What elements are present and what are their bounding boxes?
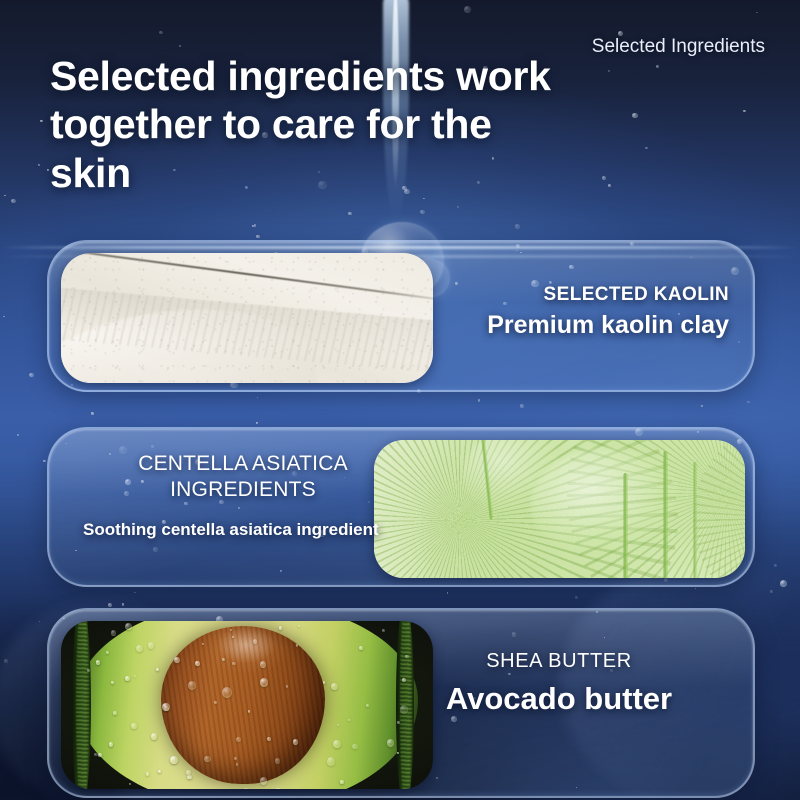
avocado-droplet-icon — [125, 676, 130, 681]
avocado-droplet-icon — [397, 721, 400, 724]
avocado-droplet-icon — [111, 681, 114, 684]
avocado-droplet-icon — [387, 739, 394, 747]
avocado-droplet-icon — [236, 737, 241, 742]
avocado-texture — [61, 621, 433, 789]
centella-eyebrow: CENTELLA ASIATICA INGREDIENTS — [83, 451, 403, 502]
avocado-droplet-icon — [125, 623, 132, 631]
avocado-droplet-icon — [170, 756, 178, 764]
water-droplet-icon — [3, 316, 5, 317]
avocado-droplet-icon — [195, 661, 199, 666]
kaolin-title: Premium kaolin clay — [409, 311, 729, 341]
avocado-droplet-icon — [151, 733, 157, 740]
corner-label: Selected Ingredients — [585, 34, 765, 59]
avocado-droplet-icon — [340, 780, 344, 784]
avocado-eyebrow: SHEA BUTTER — [409, 650, 709, 673]
avocado-droplet-icon — [146, 772, 149, 775]
avocado-droplet-icon — [286, 685, 288, 687]
lotus-stem-2 — [623, 473, 628, 578]
centella-card-text: CENTELLA ASIATICA INGREDIENTS Soothing c… — [83, 451, 403, 541]
ingredient-poster: Selected ingredients work together to ca… — [0, 0, 800, 800]
avocado-droplet-icon — [260, 661, 266, 667]
avocado-droplet-icon — [352, 744, 357, 750]
avocado-droplet-icon — [260, 678, 268, 687]
avocado-droplet-icon — [204, 756, 210, 763]
water-droplet-icon — [774, 564, 777, 566]
lotus-leaf-photo — [374, 440, 745, 578]
avocado-half-photo — [61, 621, 433, 789]
water-droplet-icon — [4, 659, 8, 663]
avocado-droplet-icon — [337, 724, 339, 726]
page-title: Selected ingredients work together to ca… — [50, 52, 570, 197]
kaolin-clay-powder-photo — [61, 253, 433, 383]
ingredient-card-centella[interactable]: CENTELLA ASIATICA INGREDIENTS Soothing c… — [47, 427, 755, 587]
avocado-droplet-icon — [187, 775, 192, 780]
centella-title: Soothing centella asiatica ingredient — [83, 520, 403, 541]
avocado-droplet-icon — [331, 683, 338, 690]
avocado-pit-grain — [161, 626, 325, 784]
avocado-droplet-icon — [129, 783, 131, 785]
lotus-stem-3 — [663, 451, 668, 578]
water-droplet-icon — [420, 210, 425, 214]
water-droplet-icon — [47, 169, 50, 171]
avocado-droplet-icon — [134, 675, 136, 677]
avocado-droplet-icon — [136, 645, 143, 652]
kaolin-texture — [61, 253, 433, 383]
water-droplet-icon — [747, 401, 749, 403]
water-droplet-icon — [515, 224, 520, 229]
ingredient-card-kaolin[interactable]: SELECTED KAOLIN Premium kaolin clay — [47, 240, 755, 392]
avocado-droplet-icon — [131, 723, 137, 729]
avocado-droplet-icon — [94, 753, 98, 757]
water-droplet-icon — [179, 45, 181, 47]
water-droplet-icon — [632, 113, 637, 118]
avocado-droplet-icon — [113, 711, 117, 715]
avocado-droplet-icon — [253, 639, 257, 643]
avocado-droplet-icon — [397, 752, 399, 754]
kaolin-grain — [61, 253, 433, 383]
avocado-droplet-icon — [279, 626, 282, 630]
avocado-droplet-icon — [382, 629, 385, 632]
ingredient-card-avocado[interactable]: SHEA BUTTER Avocado butter — [47, 608, 755, 798]
avocado-droplet-icon — [156, 668, 159, 671]
water-droplet-icon — [4, 195, 6, 197]
avocado-pit — [161, 626, 325, 784]
lotus-texture — [374, 440, 745, 578]
water-droplet-icon — [608, 70, 610, 72]
water-droplet-icon — [256, 422, 258, 423]
water-droplet-icon — [575, 596, 578, 599]
avocado-title: Avocado butter — [409, 681, 709, 718]
avocado-droplet-icon — [275, 758, 280, 763]
avocado-droplet-icon — [111, 630, 117, 636]
water-droplet-icon — [159, 31, 162, 34]
avocado-droplet-icon — [96, 660, 100, 664]
water-droplet-icon — [457, 206, 459, 208]
lotus-stem-4 — [693, 462, 697, 578]
avocado-droplet-icon — [232, 662, 236, 666]
water-droplet-icon — [478, 399, 480, 401]
avocado-droplet-icon — [333, 740, 341, 748]
water-droplet-icon — [252, 225, 255, 227]
avocado-droplet-icon — [188, 681, 196, 690]
avocado-droplet-icon — [148, 642, 154, 649]
water-droplet-icon — [91, 412, 95, 415]
avocado-droplet-icon — [98, 753, 102, 757]
avocado-droplet-icon — [214, 701, 217, 704]
avocado-skin-texture-left — [76, 621, 89, 789]
kaolin-card-text: SELECTED KAOLIN Premium kaolin clay — [409, 284, 729, 341]
avocado-droplet-icon — [222, 687, 232, 698]
avocado-droplet-icon — [234, 757, 237, 760]
avocado-droplet-icon — [293, 739, 298, 745]
avocado-card-text: SHEA BUTTER Avocado butter — [409, 650, 709, 718]
water-droplet-icon — [29, 373, 34, 377]
avocado-droplet-icon — [267, 737, 271, 741]
kaolin-eyebrow: SELECTED KAOLIN — [409, 284, 729, 306]
water-droplet-icon — [11, 199, 15, 203]
water-droplet-icon — [656, 65, 659, 68]
avocado-droplet-icon — [359, 646, 363, 650]
avocado-droplet-icon — [327, 757, 335, 766]
avocado-droplet-icon — [162, 703, 169, 711]
